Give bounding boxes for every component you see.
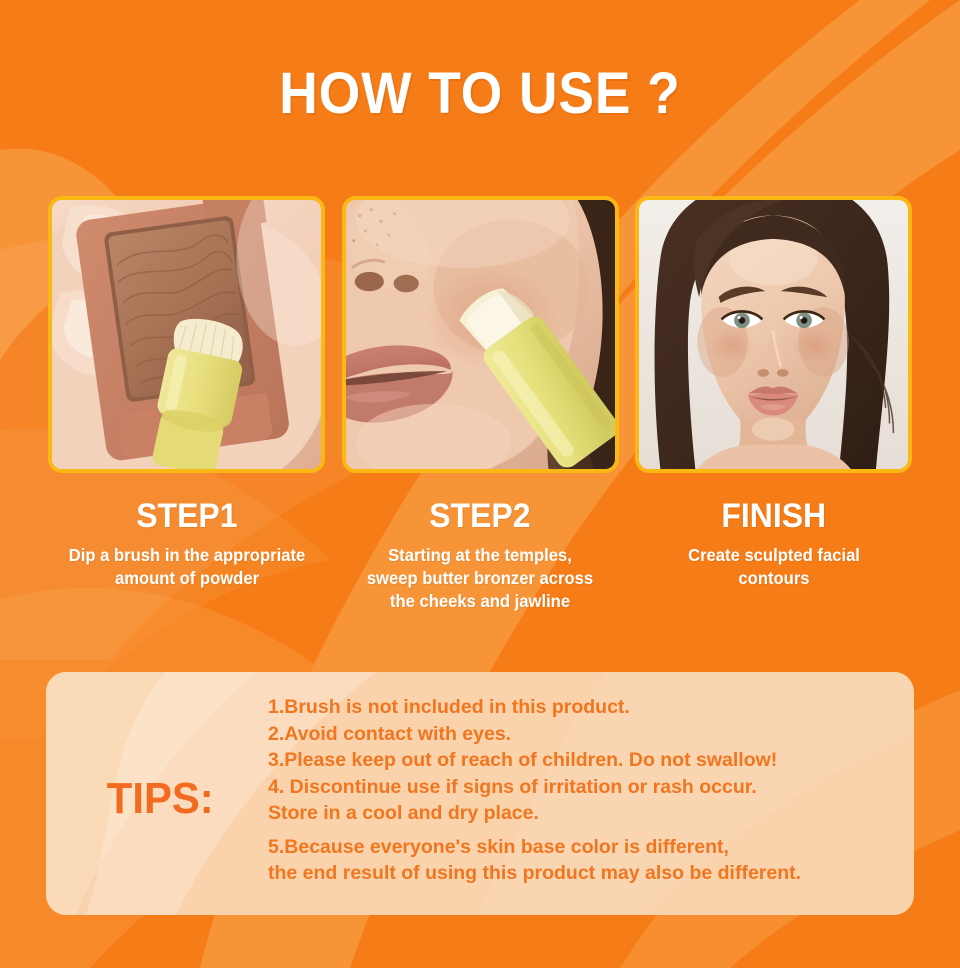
step-label: STEP1 xyxy=(136,497,237,535)
step-column-2: STEP2 Starting at the temples, sweep but… xyxy=(342,196,619,613)
tip-item-4: 4. Discontinue use if signs of irritatio… xyxy=(268,774,888,827)
page-title: HOW TO USE ? xyxy=(38,62,921,126)
brush-applying-bronzer-to-cheek-photo xyxy=(342,196,619,473)
step-label: STEP2 xyxy=(429,497,530,535)
tip-item-2: 2.Avoid contact with eyes. xyxy=(268,721,888,748)
tips-list: 1.Brush is not included in this product.… xyxy=(268,694,888,887)
steps-row: STEP1 Dip a brush in the appropriate amo… xyxy=(48,196,912,613)
step-column-3: FINISH Create sculpted facial contours xyxy=(635,196,912,613)
hand-holding-compact-with-brush-photo xyxy=(48,196,325,473)
step-column-1: STEP1 Dip a brush in the appropriate amo… xyxy=(48,196,325,613)
step-label: FINISH xyxy=(721,497,826,535)
tips-label: TIPS: xyxy=(107,776,214,822)
how-to-use-infographic: HOW TO USE ? xyxy=(0,0,960,968)
tip-item-3: 3.Please keep out of reach of children. … xyxy=(268,747,888,774)
step-caption: Dip a brush in the appropriate amount of… xyxy=(30,544,344,590)
step-caption: Create sculpted facial contours xyxy=(641,544,907,590)
tip-item-5: 5.Because everyone's skin base color is … xyxy=(268,834,888,887)
tips-panel: TIPS: 1.Brush is not included in this pr… xyxy=(46,672,914,915)
step-caption: Starting at the temples, sweep butter br… xyxy=(338,544,623,613)
finished-sculpted-face-portrait-photo xyxy=(635,196,912,473)
tip-item-1: 1.Brush is not included in this product. xyxy=(268,694,888,721)
